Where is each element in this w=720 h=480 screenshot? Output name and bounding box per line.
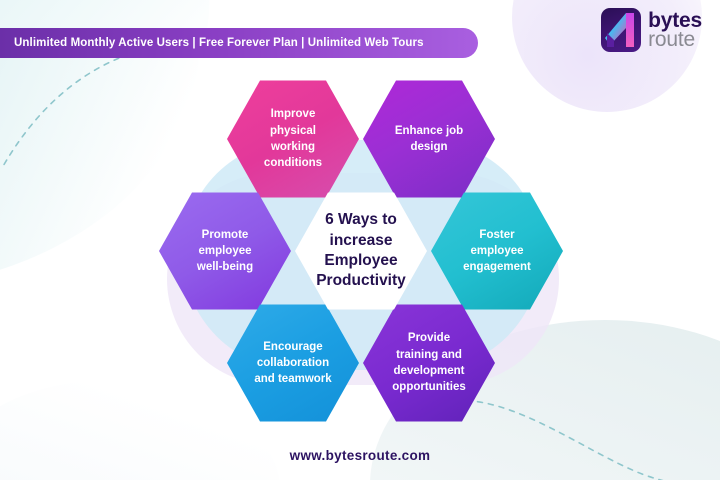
hexagon-label: Encourage collaboration and teamwork bbox=[254, 339, 331, 388]
logo-wordmark: bytes route bbox=[648, 10, 702, 50]
center-title-text: 6 Ways to increase Employee Productivity bbox=[316, 210, 406, 292]
logo-word-route: route bbox=[648, 29, 702, 50]
brand-logo[interactable]: bytes route bbox=[601, 8, 702, 52]
promo-banner-text: Unlimited Monthly Active Users | Free Fo… bbox=[14, 37, 424, 49]
promo-banner[interactable]: Unlimited Monthly Active Users | Free Fo… bbox=[0, 28, 478, 58]
hexagon-label: Enhance job design bbox=[395, 123, 463, 156]
hexagon-label: Provide training and development opportu… bbox=[392, 330, 465, 395]
site-url[interactable]: www.bytesroute.com bbox=[0, 448, 720, 463]
bytesroute-logo-mark-icon bbox=[601, 8, 641, 52]
dashed-curve-top-left bbox=[0, 48, 160, 188]
logo-arrow-icon bbox=[605, 12, 637, 48]
infographic-canvas: Unlimited Monthly Active Users | Free Fo… bbox=[0, 0, 720, 480]
hexagon-label: Improve physical working conditions bbox=[264, 106, 322, 171]
hexagon-cluster: Improve physical working conditions Enha… bbox=[155, 78, 570, 423]
hexagon-label: Promote employee well-being bbox=[197, 227, 253, 276]
hexagon-label: Foster employee engagement bbox=[463, 227, 531, 276]
